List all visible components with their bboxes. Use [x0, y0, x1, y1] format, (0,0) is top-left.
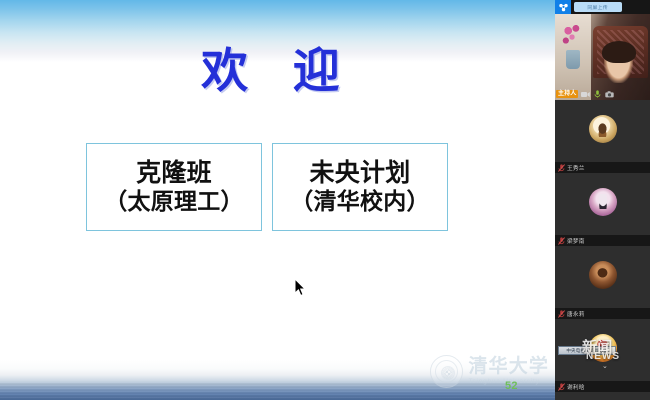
screen-share-status-label: 同屏上传: [588, 4, 608, 11]
camera-icon[interactable]: [605, 90, 614, 99]
screen-share-status-pill[interactable]: 同屏上传: [574, 2, 622, 12]
participant-sidebar[interactable]: › 同屏上传: [555, 0, 650, 400]
participant-tile-2[interactable]: [555, 173, 650, 235]
participant-tile-host[interactable]: 主持人: [555, 14, 650, 100]
slide-title: 欢 迎: [0, 48, 555, 95]
participant-tile-1[interactable]: [555, 100, 650, 162]
participant-name-row-2: 梁梦南: [555, 235, 650, 246]
video-person-hair: [602, 41, 636, 63]
video-flowers: [561, 22, 586, 51]
participant-name-1: 王秀兰: [567, 163, 585, 172]
program-box-row: 克隆班 （太原理工） 未央计划 （清华校内）: [86, 143, 448, 231]
slide-page-number: 52: [505, 380, 518, 392]
participant-name-3: 唐永莉: [567, 309, 585, 318]
sidebar-topbar: 同屏上传: [555, 0, 650, 14]
host-status-bar: 主持人: [555, 88, 650, 100]
participant-tile-3[interactable]: [555, 246, 650, 308]
host-badge: 主持人: [556, 90, 578, 98]
video-camera-icon[interactable]: [581, 90, 590, 99]
program-box-clone-class[interactable]: 克隆班 （太原理工）: [86, 143, 262, 231]
program-box-clone-class-line1: 克隆班: [136, 158, 212, 188]
participant-tile-4[interactable]: [555, 319, 650, 381]
muted-microphone-icon: [558, 164, 565, 172]
video-vase: [566, 50, 579, 69]
program-box-weiyang-plan-line2: （清华校内）: [290, 189, 429, 216]
participant-name-row-1: 王秀兰: [555, 162, 650, 173]
participant-name-row-3: 唐永莉: [555, 308, 650, 319]
participant-tile-5[interactable]: [555, 392, 650, 400]
program-box-clone-class-line2: （太原理工）: [104, 189, 243, 216]
avatar: [589, 334, 617, 362]
program-box-weiyang-plan[interactable]: 未央计划 （清华校内）: [272, 143, 448, 231]
muted-microphone-icon: [558, 383, 565, 391]
participant-name-row-4: 谢利晗: [555, 381, 650, 392]
tsinghua-watermark: 清华大学 Tsinghua University: [430, 355, 549, 388]
participant-name-2: 梁梦南: [567, 236, 585, 245]
program-box-weiyang-plan-line1: 未央计划: [309, 158, 410, 188]
muted-microphone-icon: [558, 237, 565, 245]
microphone-icon[interactable]: [593, 90, 602, 99]
avatar: [589, 188, 617, 216]
tsinghua-seal-icon: [430, 355, 463, 388]
avatar: [589, 115, 617, 143]
participant-name-4: 谢利晗: [567, 382, 585, 391]
presentation-slide[interactable]: 欢 迎 克隆班 （太原理工） 未央计划 （清华校内） 清华大学 Tsinghua…: [0, 0, 555, 400]
muted-microphone-icon: [558, 310, 565, 318]
app-logo-icon[interactable]: [555, 0, 571, 14]
avatar: [589, 261, 617, 289]
screen-share-window: 欢 迎 克隆班 （太原理工） 未央计划 （清华校内） 清华大学 Tsinghua…: [0, 0, 650, 400]
mouse-cursor: [295, 279, 307, 297]
watermark-chinese-text: 清华大学: [468, 357, 549, 376]
